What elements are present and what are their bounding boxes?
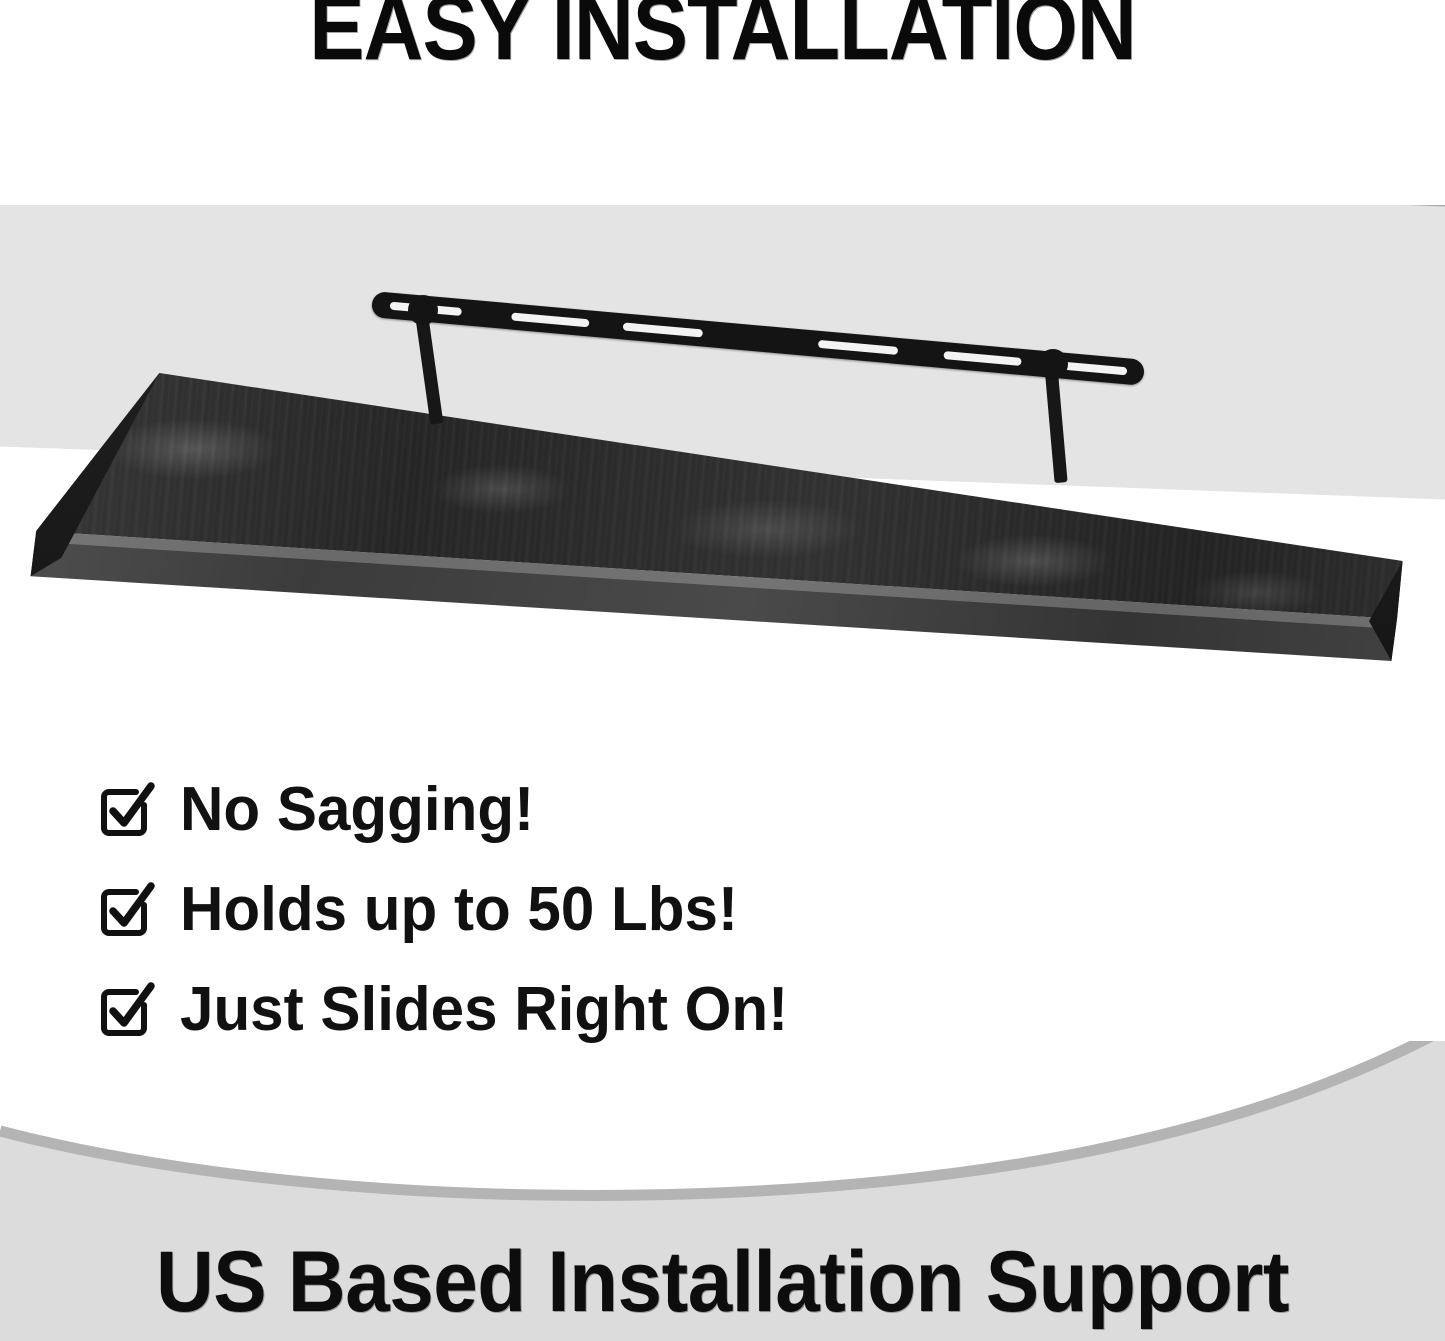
product-photo — [0, 205, 1445, 765]
bracket-hub-left — [408, 295, 438, 325]
bracket-slot — [818, 340, 898, 355]
page-title: EASY INSTALLATION — [72, 0, 1373, 74]
bracket-slot — [511, 312, 589, 327]
feature-checklist: No Sagging! Holds up to 50 Lbs! Just Sli… — [98, 760, 998, 1060]
bracket-slot — [943, 351, 1021, 366]
list-item-label: Just Slides Right On! — [180, 979, 788, 1041]
product-infographic: EASY INSTALLATION — [0, 0, 1445, 1341]
checkbox-checked-icon — [98, 781, 156, 839]
wall-bracket — [372, 291, 1147, 401]
footer-text: US Based Installation Support — [51, 1237, 1395, 1327]
checkbox-checked-icon — [98, 881, 156, 939]
floating-shelf-board — [25, 345, 1425, 745]
footer-band: US Based Installation Support — [0, 1041, 1445, 1341]
bracket-slot — [1059, 361, 1127, 375]
list-item: Holds up to 50 Lbs! — [98, 860, 998, 960]
checkbox-checked-icon — [98, 981, 156, 1039]
list-item-label: No Sagging! — [180, 779, 534, 841]
bracket-slot — [623, 322, 703, 337]
list-item: No Sagging! — [98, 760, 998, 860]
bracket-bar — [371, 291, 1145, 386]
bracket-hub-right — [1038, 349, 1068, 379]
list-item-label: Holds up to 50 Lbs! — [180, 879, 738, 941]
